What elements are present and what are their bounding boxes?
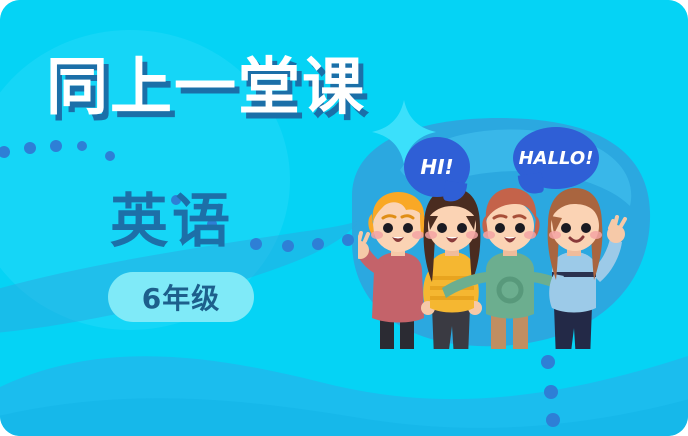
hi-bubble-text: HI! xyxy=(420,155,453,179)
page-title: 同上一堂课 xyxy=(46,52,366,122)
course-banner-card: 同上一堂课 英语 6年级 HI! HALLO! xyxy=(0,0,688,436)
hallo-speech-bubble: HALLO! xyxy=(513,127,599,189)
grade-badge-label: 6年级 xyxy=(142,277,220,317)
grade-badge: 6年级 xyxy=(108,272,254,322)
children-svg xyxy=(358,186,658,366)
hi-speech-bubble: HI! xyxy=(404,137,470,197)
child-girl-light-brown-hair xyxy=(548,188,625,360)
headline-block: 同上一堂课 英语 6年级 xyxy=(0,0,360,436)
child-girl-brown-hair xyxy=(421,188,482,358)
subject-title: 英语 xyxy=(110,188,234,254)
hallo-bubble-text: HALLO! xyxy=(519,148,594,169)
four-children-illustration xyxy=(358,186,658,366)
child-boy-blonde xyxy=(358,192,426,354)
